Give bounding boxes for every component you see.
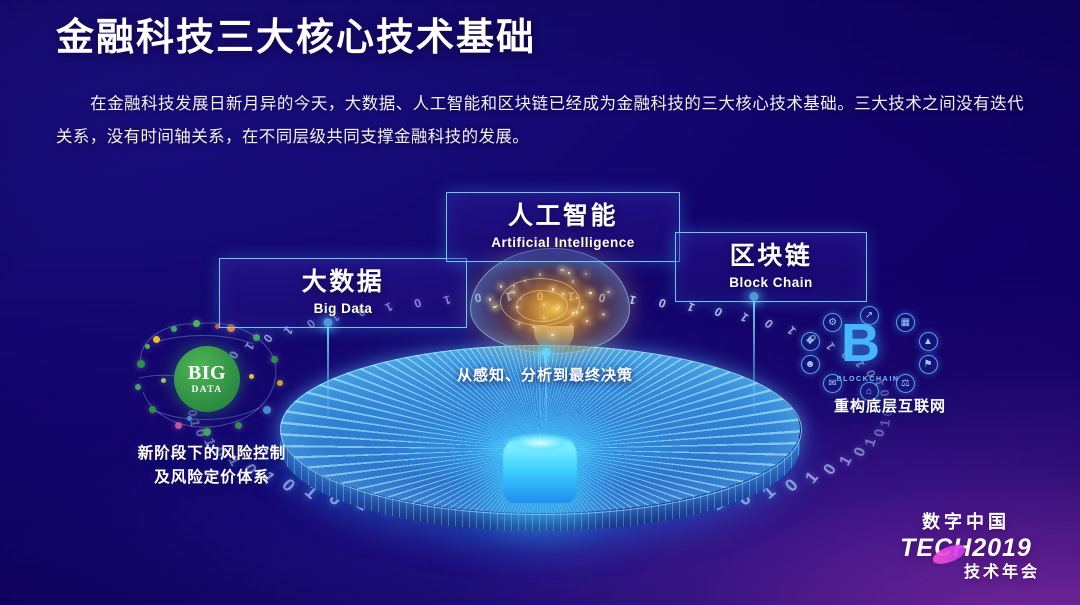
brain-spark [607,291,609,293]
caption-bigdata: 新阶段下的风险控制 及风险定价体系 [104,442,320,490]
big-data-node [203,428,211,436]
caption-ai: 从感知、分析到最终决策 [420,364,670,385]
blockchain-node-icon: ☻ [801,355,820,374]
blockchain-node-icon: ↗ [860,306,879,325]
blockchain-node-icon: ⚖ [896,374,915,393]
big-data-node [277,380,283,386]
logo-line-2: TECH2019 [886,535,1046,563]
brain-spark [532,326,534,328]
logo-line-3: 技术年会 [886,563,1046,583]
big-data-node [175,422,182,429]
big-data-node [149,406,156,413]
big-data-badge: BIG DATA [174,346,240,412]
blockchain-node-icon: ⚙ [823,313,842,332]
connector-stem-bigdata [327,322,329,416]
intro-paragraph: 在金融科技发展日新月异的今天，大数据、人工智能和区块链已经成为金融科技的三大核心… [56,88,1024,154]
big-data-network-icon: BIG DATA [131,318,289,438]
big-data-node [161,378,166,383]
big-data-node [187,416,192,421]
connector-knob-ai [541,348,550,357]
brain-spark [551,334,553,336]
big-data-badge-primary: BIG [188,363,226,383]
caption-bigdata-line1: 新阶段下的风险控制 [104,442,320,466]
event-logo: 数字中国 TECH2019 技术年会 [886,511,1046,583]
caption-bigdata-line2: 及风险定价体系 [104,466,320,490]
connector-stem-ai [545,352,547,424]
brain-spark [516,306,518,308]
brain-outline [470,248,630,354]
big-data-node [153,336,160,343]
brain-spark [589,292,591,294]
blockchain-node-icon: ❖ [801,332,820,351]
brain-spark [572,280,574,282]
label-card-blockchain[interactable]: 区块链 Block Chain [675,232,867,302]
blockchain-network-icon: B BLOCKCHAIN ↗▦▲⚑⚖⌂✉☻❖⚙ [793,308,943,400]
label-ai-cn: 人工智能 [463,202,663,232]
brain-spark [602,313,604,315]
big-data-node [235,422,242,429]
big-data-node [137,360,145,368]
slide-canvas: 金融科技三大核心技术基础 在金融科技发展日新月异的今天，大数据、人工智能和区块链… [0,0,1080,605]
page-title: 金融科技三大核心技术基础 [56,16,536,62]
blockchain-node-icon: ▲ [919,332,938,351]
caption-blockchain: 重构底层互联网 [792,395,988,416]
blockchain-symbol: B [841,316,895,378]
brain-spark [513,291,515,293]
core-beam-cap [503,433,577,453]
label-bigdata-en: Big Data [236,301,450,316]
big-data-node [263,406,271,414]
big-data-node [249,374,254,379]
label-bigdata-cn: 大数据 [236,268,450,298]
logo-line-1: 数字中国 [886,511,1046,534]
blockchain-node-icon: ⚑ [919,355,938,374]
big-data-node [271,356,278,363]
big-data-node [145,344,150,349]
paragraph-line-1: 在金融科技发展日新月异的今天，大数据、人工智能和区块链已经成为金融科技的三大核心… [90,95,820,113]
label-ai-en: Artificial Intelligence [463,235,663,250]
big-data-node [135,384,141,390]
label-blockchain-en: Block Chain [692,275,850,290]
brain-icon [470,248,630,354]
brain-spark [510,291,512,293]
blockchain-node-icon: ✉ [823,374,842,393]
label-card-bigdata[interactable]: 大数据 Big Data [219,258,467,328]
big-data-badge-secondary: DATA [191,385,222,395]
label-card-ai[interactable]: 人工智能 Artificial Intelligence [446,192,680,262]
brain-spark [581,306,583,308]
big-data-node [193,320,200,327]
brain-spark [552,288,554,290]
blockchain-node-icon: ▦ [896,313,915,332]
big-data-node [171,326,177,332]
big-data-node [253,334,260,341]
connector-stem-blockchain [753,296,755,412]
label-blockchain-cn: 区块链 [692,242,850,272]
